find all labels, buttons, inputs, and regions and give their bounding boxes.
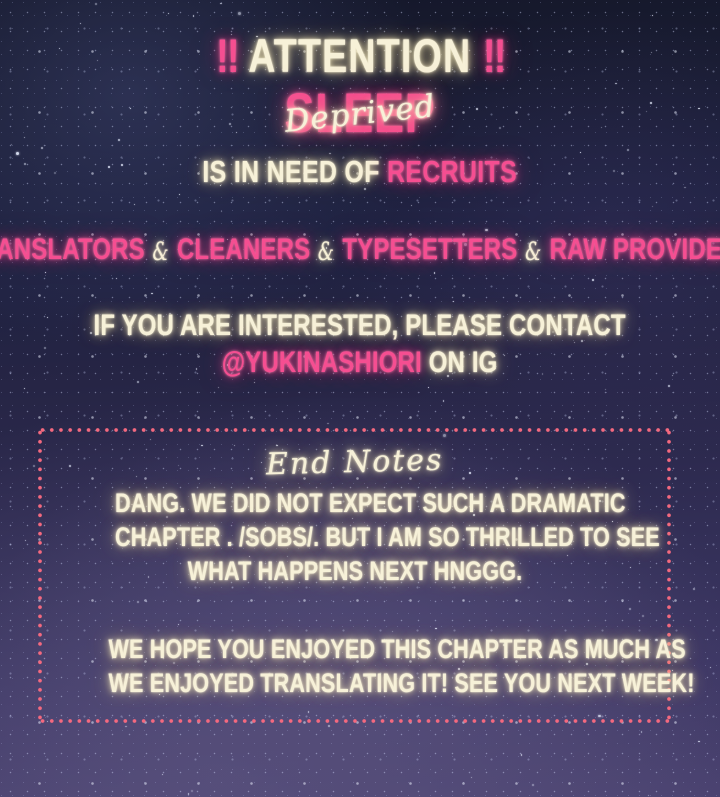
role-typesetters: TYPESETTERS <box>343 233 518 266</box>
roles-line: TRANSLATORS & CLEANERS & TYPESETTERS & R… <box>0 232 720 270</box>
attention-bangs-right: !! <box>483 29 505 82</box>
page-title: !! ATTENTION !! <box>216 30 505 82</box>
contact-handle[interactable]: @YUKINASHIORI <box>222 346 422 379</box>
need-line: IS IN NEED OF RECRUITS <box>203 154 518 190</box>
role-separator-3: & <box>524 237 542 266</box>
role-translators: TRANSLATORS <box>0 233 145 266</box>
need-line-prefix: IS IN NEED OF <box>203 154 380 189</box>
end-notes-paragraph-2: WE HOPE YOU ENJOYED THIS CHAPTER AS MUCH… <box>109 632 601 700</box>
role-raw-providers: RAW PROVIDERS <box>550 233 720 266</box>
need-line-highlight: RECRUITS <box>387 154 517 189</box>
end-notes-p2-line-1: WE HOPE YOU ENJOYED THIS CHAPTER AS MUCH… <box>109 632 601 666</box>
end-notes-p1-line-1: DANG. WE DID NOT EXPECT SUCH A DRAMATIC <box>115 486 595 520</box>
attention-bangs-left: !! <box>216 29 238 82</box>
end-notes-p1-line-2: CHAPTER . /SOBS/. BUT I AM SO THRILLED T… <box>115 520 595 554</box>
attention-word: ATTENTION <box>248 29 471 82</box>
role-cleaners: CLEANERS <box>177 233 310 266</box>
end-notes-p1-line-3: WHAT HAPPENS NEXT HNGGG. <box>115 554 595 588</box>
end-notes-box: End Notes DANG. WE DID NOT EXPECT SUCH A… <box>38 428 671 723</box>
contact-block: IF YOU ARE INTERESTED, PLEASE CONTACT @Y… <box>27 308 692 380</box>
end-notes-paragraph-1: DANG. WE DID NOT EXPECT SUCH A DRAMATIC … <box>115 486 595 588</box>
end-notes-content: End Notes DANG. WE DID NOT EXPECT SUCH A… <box>38 428 671 723</box>
group-name-lockup: SLEEP Deprived <box>230 84 490 146</box>
contact-instruction: IF YOU ARE INTERESTED, PLEASE CONTACT <box>94 308 626 343</box>
role-separator-2: & <box>317 237 335 266</box>
role-separator-1: & <box>152 237 170 266</box>
contact-platform-suffix: ON IG <box>429 346 498 379</box>
contact-handle-line: @YUKINASHIORI ON IG <box>94 345 626 380</box>
end-notes-heading: End Notes <box>265 442 443 485</box>
end-notes-p2-line-2: WE ENJOYED TRANSLATING IT! SEE YOU NEXT … <box>109 666 601 700</box>
